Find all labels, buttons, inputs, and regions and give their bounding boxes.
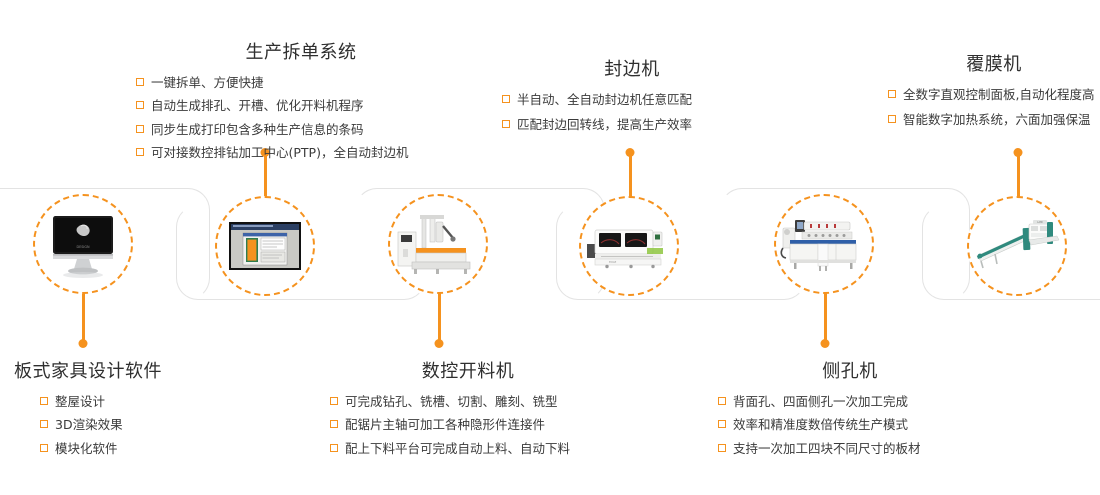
block-heading: 板式家具设计软件 (14, 357, 214, 383)
feature-item: 全数字直观控制面板,自动化程度高 (888, 85, 1100, 104)
feature-text: 3D渲染效果 (55, 415, 123, 434)
connector-dot (1014, 148, 1023, 157)
checkbox-bullet-icon (888, 115, 896, 123)
cnc-router-machine-icon (392, 204, 484, 284)
checkbox-bullet-icon (330, 444, 338, 452)
svg-text:EDGE: EDGE (609, 260, 617, 264)
feature-item: 配上下料平台可完成自动上料、自动下料 (330, 439, 606, 458)
block-heading: 生产拆单系统 (136, 38, 466, 64)
svg-text:LAMI: LAMI (1037, 221, 1043, 224)
node-software-screen[interactable] (215, 196, 315, 296)
text-block-side-hole-drilling-machine: 侧孔机 背面孔、四面侧孔一次加工完成 效率和精准度数倍传统生产模式 支持一次加工… (718, 357, 982, 462)
block-heading: 封边机 (502, 55, 762, 81)
feature-text: 可完成钻孔、铣槽、切割、雕刻、铣型 (345, 392, 558, 411)
edge-bander-machine-icon: EDGE (583, 206, 675, 286)
block-heading: 覆膜机 (888, 50, 1100, 76)
feature-text: 模块化软件 (55, 439, 118, 458)
checkbox-bullet-icon (718, 420, 726, 428)
checkbox-bullet-icon (136, 125, 144, 133)
node-imac[interactable]: DESIGN (33, 194, 133, 294)
node-laminator[interactable]: LAMI (967, 196, 1067, 296)
feature-item: 半自动、全自动封边机任意匹配 (502, 90, 762, 109)
checkbox-bullet-icon (330, 397, 338, 405)
feature-text: 同步生成打印包含多种生产信息的条码 (151, 120, 364, 139)
feature-text: 匹配封边回转线，提高生产效率 (517, 115, 692, 134)
feature-text: 配上下料平台可完成自动上料、自动下料 (345, 439, 570, 458)
text-block-production-order-splitting-system: 生产拆单系统 一键拆单、方便快捷 自动生成排孔、开槽、优化开料机程序 同步生成打… (136, 38, 466, 167)
feature-text: 自动生成排孔、开槽、优化开料机程序 (151, 96, 364, 115)
checkbox-bullet-icon (502, 120, 510, 128)
imac-monitor-icon: DESIGN (37, 204, 129, 284)
feature-item: 背面孔、四面侧孔一次加工完成 (718, 392, 982, 411)
checkbox-bullet-icon (136, 78, 144, 86)
infographic-canvas: DESIGN (0, 0, 1100, 495)
connector-stem-node-cnc-router (438, 292, 441, 344)
feature-text: 半自动、全自动封边机任意匹配 (517, 90, 692, 109)
connector-stem-node-edge-bander (629, 152, 632, 200)
feature-item: 可对接数控排钻加工中心(PTP)，全自动封边机 (136, 143, 466, 162)
checkbox-bullet-icon (718, 444, 726, 452)
text-block-edge-banding-machine: 封边机 半自动、全自动封边机任意匹配 匹配封边回转线，提高生产效率 (502, 55, 762, 139)
text-block-laminating-machine: 覆膜机 全数字直观控制面板,自动化程度高 智能数字加热系统，六面加强保温 (888, 50, 1100, 134)
connector-stem-node-laminator (1017, 152, 1020, 200)
feature-item: 支持一次加工四块不同尺寸的板材 (718, 439, 982, 458)
svg-text:DESIGN: DESIGN (76, 245, 90, 249)
software-screen-icon (219, 206, 311, 286)
text-block-cnc-cutting-machine: 数控开料机 可完成钻孔、铣槽、切割、雕刻、铣型 配锯片主轴可加工各种隐形件连接件… (330, 357, 606, 462)
feature-item: 智能数字加热系统，六面加强保温 (888, 110, 1100, 129)
feature-item: 配锯片主轴可加工各种隐形件连接件 (330, 415, 606, 434)
connector-dot (821, 339, 830, 348)
connector-dot (79, 339, 88, 348)
feature-item: 效率和精准度数倍传统生产模式 (718, 415, 982, 434)
checkbox-bullet-icon (136, 148, 144, 156)
feature-text: 整屋设计 (55, 392, 105, 411)
block-heading: 侧孔机 (718, 357, 982, 383)
connector-stem-node-side-driller (824, 292, 827, 344)
checkbox-bullet-icon (136, 101, 144, 109)
laminator-machine-icon: LAMI (971, 206, 1063, 286)
block-heading: 数控开料机 (330, 357, 606, 383)
side-driller-machine-icon (778, 204, 870, 284)
feature-item: 匹配封边回转线，提高生产效率 (502, 115, 762, 134)
checkbox-bullet-icon (502, 95, 510, 103)
node-cnc-router[interactable] (388, 194, 488, 294)
feature-text: 一键拆单、方便快捷 (151, 73, 264, 92)
checkbox-bullet-icon (40, 444, 48, 452)
feature-text: 配锯片主轴可加工各种隐形件连接件 (345, 415, 545, 434)
feature-item: 模块化软件 (40, 439, 214, 458)
feature-item: 一键拆单、方便快捷 (136, 73, 466, 92)
checkbox-bullet-icon (330, 420, 338, 428)
feature-text: 可对接数控排钻加工中心(PTP)，全自动封边机 (151, 143, 408, 162)
feature-text: 效率和精准度数倍传统生产模式 (733, 415, 908, 434)
feature-item: 自动生成排孔、开槽、优化开料机程序 (136, 96, 466, 115)
node-edge-bander[interactable]: EDGE (579, 196, 679, 296)
checkbox-bullet-icon (40, 420, 48, 428)
feature-text: 全数字直观控制面板,自动化程度高 (903, 85, 1094, 104)
feature-item: 3D渲染效果 (40, 415, 214, 434)
feature-item: 整屋设计 (40, 392, 214, 411)
checkbox-bullet-icon (40, 397, 48, 405)
connector-dot (626, 148, 635, 157)
text-block-panel-furniture-design-software: 板式家具设计软件 整屋设计 3D渲染效果 模块化软件 (14, 357, 214, 462)
feature-text: 智能数字加热系统，六面加强保温 (903, 110, 1091, 129)
feature-text: 支持一次加工四块不同尺寸的板材 (733, 439, 921, 458)
feature-text: 背面孔、四面侧孔一次加工完成 (733, 392, 908, 411)
feature-item: 可完成钻孔、铣槽、切割、雕刻、铣型 (330, 392, 606, 411)
node-side-driller[interactable] (774, 194, 874, 294)
checkbox-bullet-icon (718, 397, 726, 405)
feature-item: 同步生成打印包含多种生产信息的条码 (136, 120, 466, 139)
checkbox-bullet-icon (888, 90, 896, 98)
connector-stem-node-imac (82, 292, 85, 344)
connector-dot (435, 339, 444, 348)
